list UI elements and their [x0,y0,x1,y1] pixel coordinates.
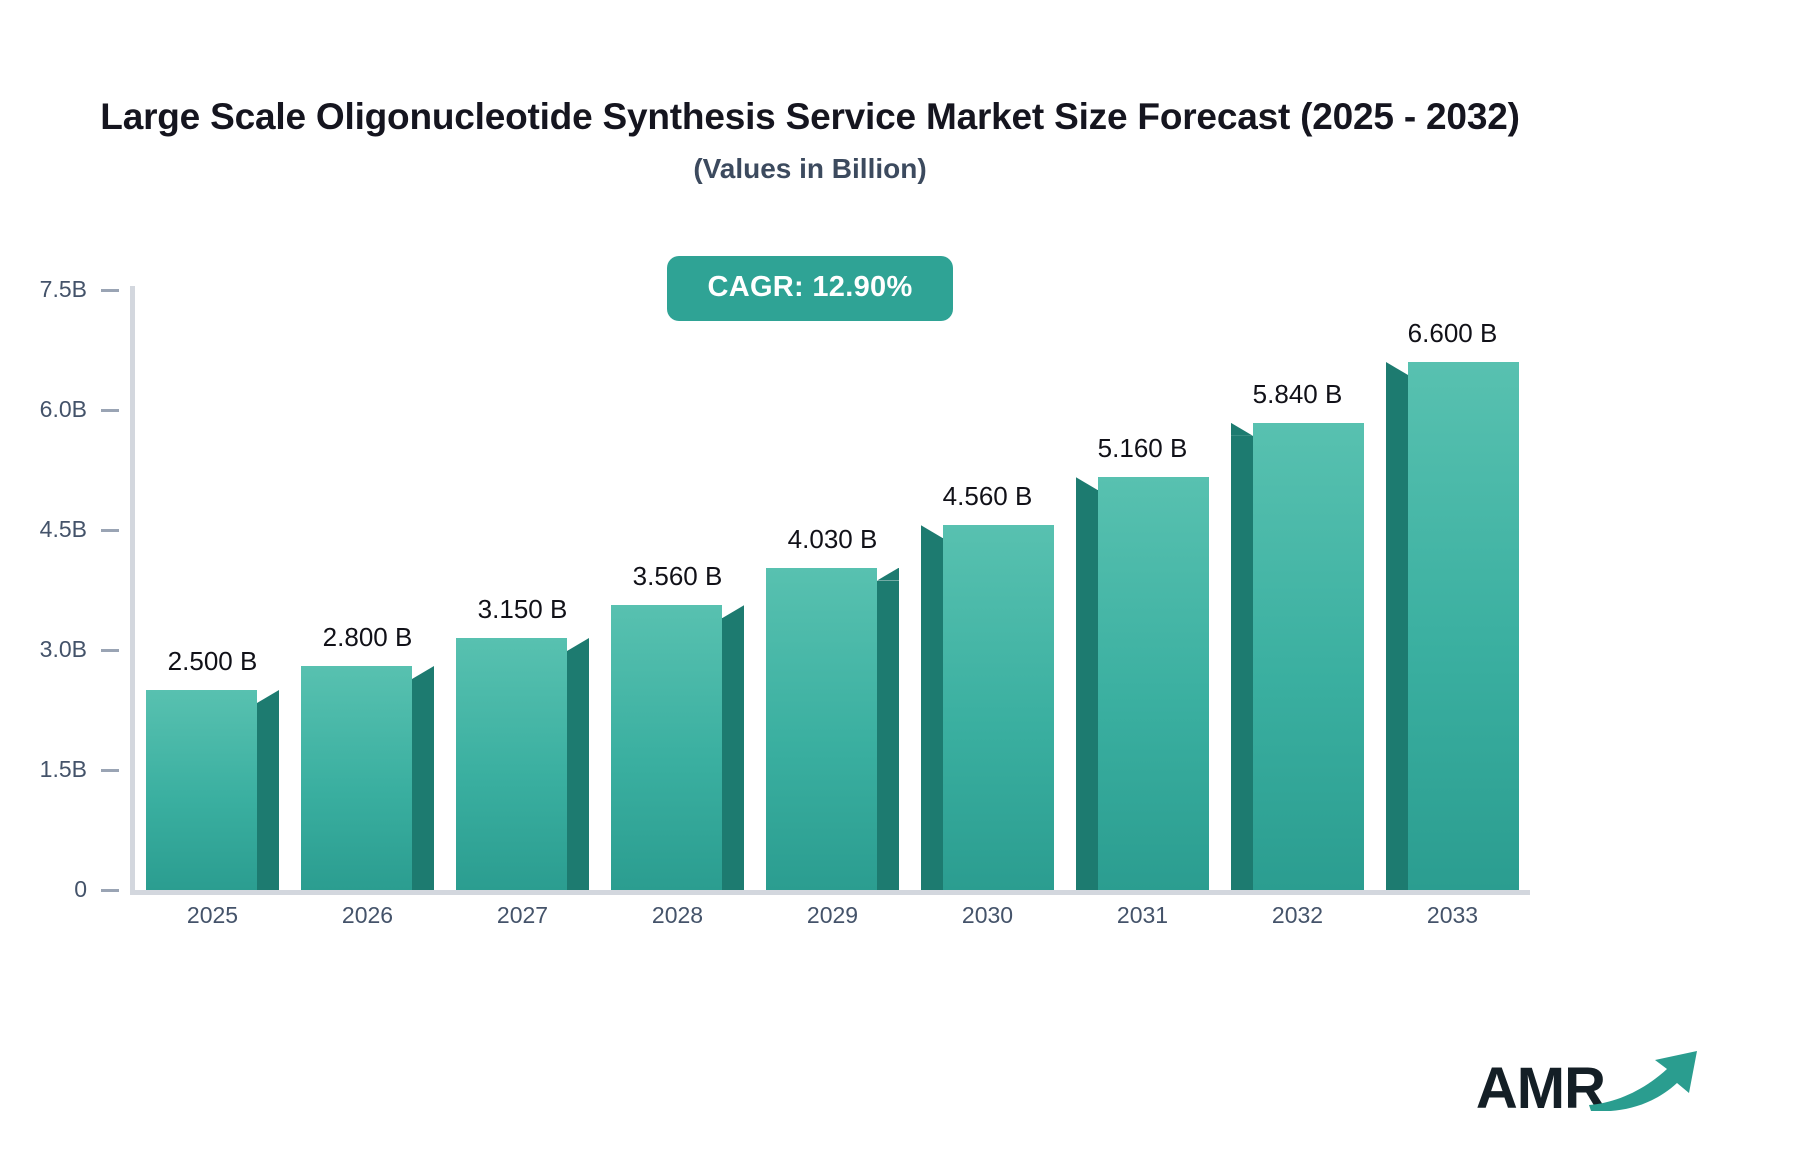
bar-front-face [611,605,722,890]
y-axis-tick-dash [101,649,119,652]
bar-value-label: 4.560 B [921,481,1054,512]
bar-value-label: 2.800 B [301,622,434,653]
x-axis-label: 2031 [1065,902,1220,929]
bar-depth-face [412,679,434,890]
bar-column[interactable]: 4.030 B [766,290,899,890]
bar-front-face [1408,362,1519,890]
bar-front-face [1098,477,1209,890]
amr-logo: AMR [1476,1046,1705,1118]
bar-top-bevel [877,568,899,581]
bar-front-face [301,666,412,890]
bar-value-label: 3.560 B [611,561,744,592]
bar-depth-face [567,651,589,890]
y-axis-tick-dash [101,769,119,772]
bar[interactable]: 3.560 B [611,605,744,890]
page-title: Large Scale Oligonucleotide Synthesis Se… [0,96,1620,139]
bar-front-face [766,568,877,890]
y-axis-tick-dash [101,289,119,292]
bar-depth-face [1386,375,1408,890]
bar-column[interactable]: 2.800 B [301,290,434,890]
chart-subtitle: (Values in Billion) [0,153,1620,185]
y-axis-tick-dash [101,529,119,532]
bar-front-face [943,525,1054,890]
bar-value-label: 5.160 B [1076,433,1209,464]
x-axis-label: 2033 [1375,902,1530,929]
y-axis-tick-label: 3.0B [40,638,87,661]
bar-top-bevel [567,638,589,651]
bar-value-label: 5.840 B [1231,379,1364,410]
bar-column[interactable]: 4.560 B [921,290,1054,890]
bar-top-bevel [257,690,279,703]
bar-top-bevel [722,605,744,618]
chart-canvas: Large Scale Oligonucleotide Synthesis Se… [0,0,1800,1156]
x-axis-label: 2027 [445,902,600,929]
x-axis-label: 2029 [755,902,910,929]
y-axis-tick-dash [101,409,119,412]
y-axis-tick-label: 4.5B [40,518,87,541]
bar-depth-face [722,618,744,890]
bar-value-label: 6.600 B [1386,318,1519,349]
x-axis-labels: 202520262027202820292030203120322033 [135,902,1530,942]
bar-top-bevel [1076,477,1098,490]
x-axis-label: 2032 [1220,902,1375,929]
y-axis-tick-dash [101,889,119,892]
bar[interactable]: 4.030 B [766,568,899,890]
bar-series: 2.500 B2.800 B3.150 B3.560 B4.030 B4.560… [135,290,1530,890]
chart-header: Large Scale Oligonucleotide Synthesis Se… [0,96,1620,185]
bar-column[interactable]: 3.560 B [611,290,744,890]
bar-depth-face [1076,490,1098,890]
x-axis-label: 2030 [910,902,1065,929]
bar-value-label: 2.500 B [146,646,279,677]
bar-value-label: 4.030 B [766,524,899,555]
y-axis-tick-label: 7.5B [40,278,87,301]
bar-column[interactable]: 5.840 B [1231,290,1364,890]
bar[interactable]: 6.600 B [1386,362,1519,890]
bar[interactable]: 4.560 B [921,525,1054,890]
bar-depth-face [257,703,279,890]
bar-top-bevel [921,525,943,538]
growth-arrow-icon [1585,1045,1705,1116]
bar-value-label: 3.150 B [456,594,589,625]
bar[interactable]: 5.160 B [1076,477,1209,890]
bar[interactable]: 2.500 B [146,690,279,890]
y-axis-tick-label: 0 [74,878,87,901]
bar-front-face [146,690,257,890]
bar-top-bevel [412,666,434,679]
bar[interactable]: 3.150 B [456,638,589,890]
bar-top-bevel [1386,362,1408,375]
x-axis-label: 2028 [600,902,755,929]
x-axis-label: 2026 [290,902,445,929]
bar-column[interactable]: 3.150 B [456,290,589,890]
y-axis-tick-label: 6.0B [40,398,87,421]
bar-depth-face [921,538,943,890]
bar[interactable]: 2.800 B [301,666,434,890]
bar-depth-face [1231,436,1253,890]
bar-column[interactable]: 5.160 B [1076,290,1209,890]
bar-front-face [1253,423,1364,890]
bar-column[interactable]: 6.600 B [1386,290,1519,890]
bar-front-face [456,638,567,890]
y-axis-tick-label: 1.5B [40,758,87,781]
bar-top-bevel [1231,423,1253,436]
x-axis-line [130,890,1530,895]
x-axis-label: 2025 [135,902,290,929]
plot-area: 01.5B3.0B4.5B6.0B7.5B 2.500 B2.800 B3.15… [135,290,1530,890]
bar[interactable]: 5.840 B [1231,423,1364,890]
bar-column[interactable]: 2.500 B [146,290,279,890]
bar-depth-face [877,581,899,890]
